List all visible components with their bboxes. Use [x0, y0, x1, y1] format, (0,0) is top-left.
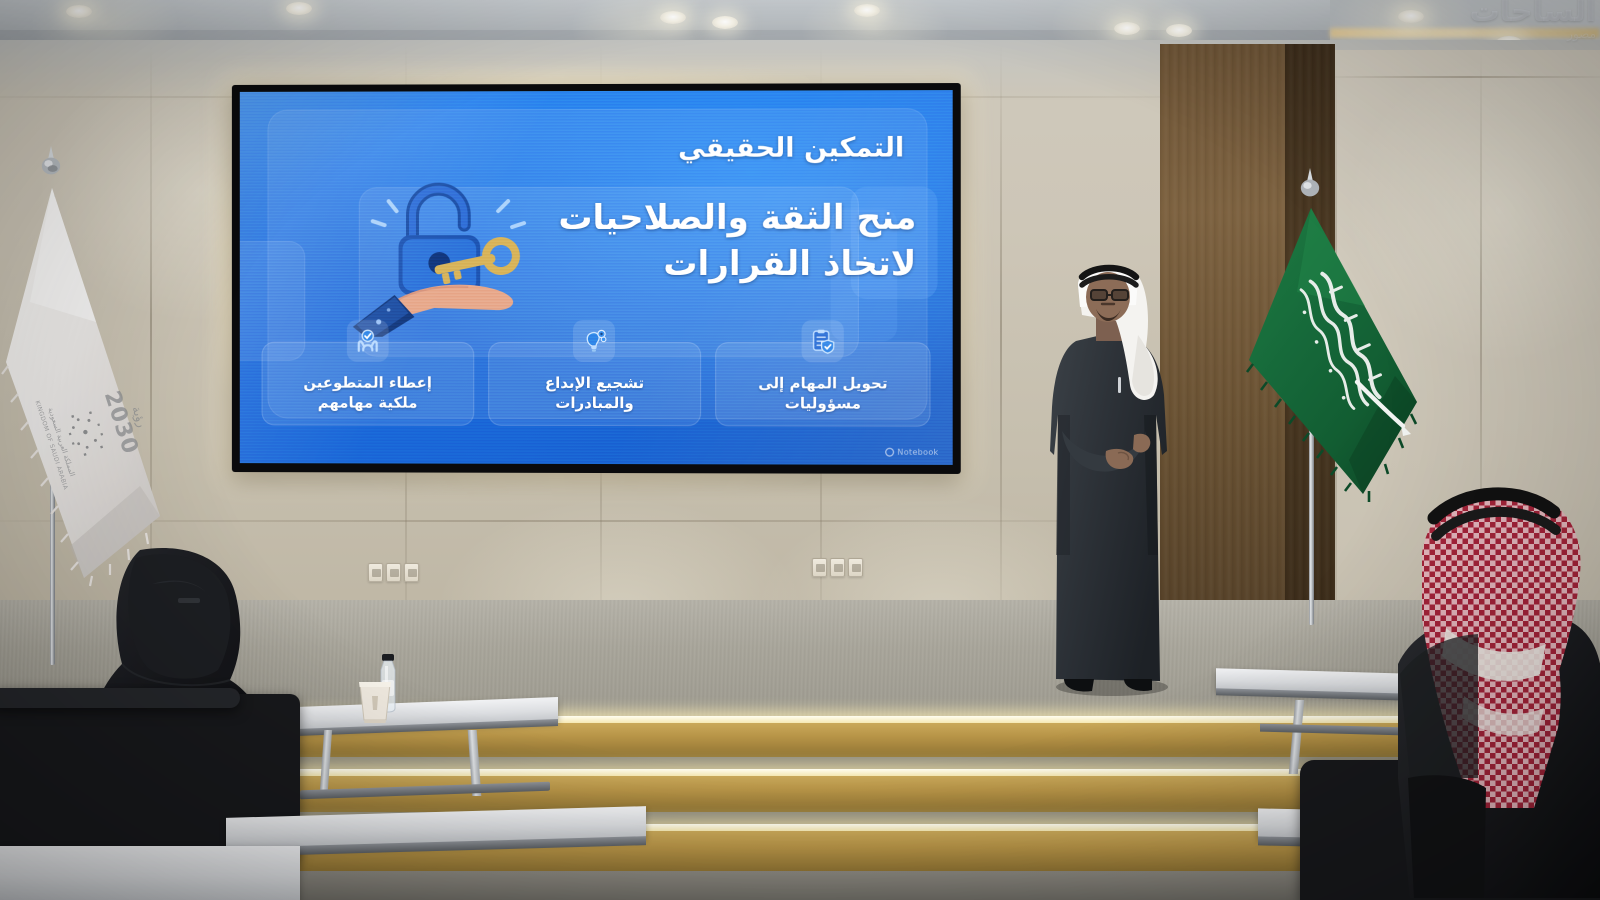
ceiling-spotlight-icon [854, 4, 880, 17]
slide-headline-line1: منح الثقة والصلاحيات [558, 196, 916, 242]
attendee-right-person [1380, 478, 1600, 900]
slide-card-label-line2: ملكية مهامهم [303, 392, 432, 412]
ceiling-spotlight-icon [1398, 10, 1424, 23]
hands-check-badge-icon [347, 320, 389, 362]
wall-socket-group[interactable] [368, 563, 419, 582]
slide-card-label: إعطاء المتطوعين ملكية مهامهم [303, 372, 432, 412]
slide-headline: منح الثقة والصلاحيات لاتخاذ القرارات [558, 196, 916, 287]
slide-card-label-line1: إعطاء المتطوعين [303, 372, 432, 392]
slide-card-label-line2: والمبادرات [545, 393, 644, 413]
slide-card-label: تحويل المهام إلى مسؤوليات [758, 373, 887, 414]
presentation-slide: التمكين الحقيقي منح الثقة والصلاحيات لات… [240, 90, 953, 465]
led-video-wall[interactable]: التمكين الحقيقي منح الثقة والصلاحيات لات… [232, 83, 961, 474]
slide-card: تحويل المهام إلى مسؤوليات [716, 342, 931, 427]
slide-headline-line2: لاتخاذ القرارات [558, 241, 916, 287]
paper-cup-icon [355, 680, 395, 724]
clipboard-shield-icon [802, 320, 844, 362]
power-socket-icon[interactable] [386, 563, 401, 582]
slide-logo: Notebook [885, 448, 938, 457]
slide-card-label-line2: مسؤوليات [758, 393, 887, 413]
ceiling-cove-light [1330, 28, 1600, 38]
power-socket-icon[interactable] [830, 558, 845, 577]
slide-title: التمكين الحقيقي [678, 132, 904, 163]
wall-seam-horizontal [1335, 76, 1600, 78]
ceiling-spotlight-icon [1166, 24, 1192, 37]
power-socket-icon[interactable] [404, 563, 419, 582]
slide-card-label: تشجيع الإبداع والمبادرات [545, 373, 644, 413]
lightbulb-gear-icon [573, 320, 615, 362]
power-socket-icon[interactable] [368, 563, 383, 582]
wall-seam [1000, 44, 1002, 610]
flag-vision-2030: 2030 رؤية المملكة العربية السعودية KINGD… [0, 186, 175, 596]
wall-seam [1480, 52, 1482, 522]
slide-card: إعطاء المتطوعين ملكية مهامهم [262, 342, 474, 426]
foreground-desk-left-panel [0, 846, 300, 900]
hand-holding-padlock-icon [349, 177, 548, 337]
power-socket-icon[interactable] [848, 558, 863, 577]
chair-left-headrest [0, 688, 240, 708]
wall-socket-group[interactable] [812, 558, 863, 577]
power-socket-icon[interactable] [812, 558, 827, 577]
ceiling-spotlight-icon [660, 11, 686, 24]
logo-mark-icon [885, 448, 894, 457]
slide-card-label-line1: تحويل المهام إلى [758, 373, 887, 393]
ceiling-spotlight-icon [712, 16, 738, 29]
slide-logo-text: Notebook [897, 448, 938, 457]
flag-finial-icon [38, 146, 64, 176]
flag-finial-icon [1297, 168, 1323, 198]
presenter-person [1020, 255, 1200, 700]
slide-card-row: تحويل المهام إلى مسؤوليات [262, 342, 931, 427]
ceiling-spotlight-icon [1114, 22, 1140, 35]
ceiling-spotlight-icon [286, 2, 312, 15]
ceiling-spotlight-icon [66, 5, 92, 18]
slide-card-label-line1: تشجيع الإبداع [545, 373, 644, 393]
photo-scene: التمكين الحقيقي منح الثقة والصلاحيات لات… [0, 0, 1600, 900]
slide-card: تشجيع الإبداع والمبادرات [488, 342, 702, 426]
